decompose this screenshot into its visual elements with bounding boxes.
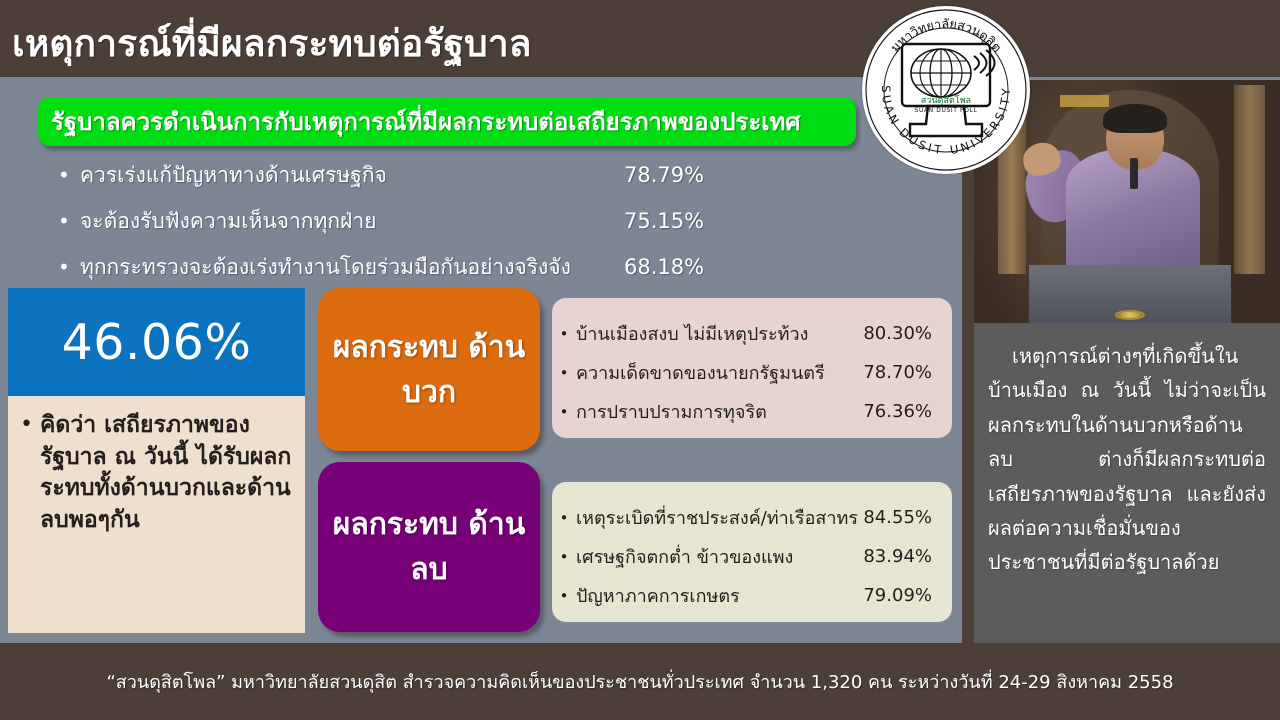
podium-seal-icon (1115, 310, 1145, 319)
list-item-label: การปราบปรามการทุจริต (576, 397, 767, 426)
list-item-label: ความเด็ดขาดของนายกรัฐมนตรี (576, 358, 825, 387)
positive-impact-tag-label: ผลกระทบ ด้านบวก (318, 325, 540, 415)
list-item: • เหตุระเบิดที่ราชประสงค์/ท่าเรือสาทร 84… (552, 498, 952, 537)
photo-pillar-right (1234, 85, 1265, 275)
recommendation-list: • ควรเร่งแก้ปัญหาทางด้านเศรษฐกิจ 78.79% … (58, 152, 758, 290)
bullet-icon: • (58, 165, 80, 185)
bullet-icon: • (552, 403, 576, 421)
list-item-percent: 80.30% (863, 323, 932, 344)
green-banner-label: รัฐบาลควรดำเนินการกับเหตุการณ์ที่มีผลกระ… (38, 102, 801, 141)
logo-center-thai: สวนดุสิตโพล (921, 95, 971, 106)
page-title: เหตุการณ์ที่มีผลกระทบต่อรัฐบาล (12, 14, 532, 73)
list-item: • บ้านเมืองสงบ ไม่มีเหตุประท้วง 80.30% (552, 314, 952, 353)
list-item-percent: 83.94% (863, 546, 932, 567)
list-item: • ความเด็ดขาดของนายกรัฐมนตรี 78.70% (552, 353, 952, 392)
headline-stat-box: 46.06% (8, 288, 305, 396)
list-item: • จะต้องรับฟังความเห็นจากทุกฝ่าย 75.15% (58, 198, 758, 244)
list-item: • คิดว่า เสถียรภาพของรัฐบาล ณ วันนี้ ได้… (20, 410, 293, 537)
negative-impact-panel: • เหตุระเบิดที่ราชประสงค์/ท่าเรือสาทร 84… (552, 482, 952, 622)
bullet-icon: • (20, 410, 40, 537)
green-question-banner: รัฐบาลควรดำเนินการกับเหตุการณ์ที่มีผลกระ… (38, 97, 856, 146)
bullet-icon: • (552, 364, 576, 382)
bullet-icon: • (552, 509, 576, 527)
logo-center-latin: SUAN DUSIT POLL (915, 107, 978, 114)
list-item-label: บ้านเมืองสงบ ไม่มีเหตุประท้วง (576, 319, 808, 348)
microphone-icon (1130, 158, 1138, 190)
photo-gold-ornament (1060, 95, 1109, 107)
summary-note-panel: เหตุการณ์ต่างๆที่เกิดขึ้นในบ้านเมือง ณ ว… (974, 323, 1280, 643)
footer-source-text: “สวนดุสิตโพล” มหาวิทยาลัยสวนดุสิต สำรวจค… (106, 667, 1173, 696)
list-item-label: จะต้องรับฟังความเห็นจากทุกฝ่าย (80, 205, 376, 238)
bullet-icon: • (58, 257, 80, 277)
footer-bar: “สวนดุสิตโพล” มหาวิทยาลัยสวนดุสิต สำรวจค… (0, 643, 1280, 720)
list-item-label: ปัญหาภาคการเกษตร (576, 581, 740, 610)
bullet-icon: • (552, 325, 576, 343)
photo-podium (1029, 265, 1231, 323)
negative-impact-tag-label: ผลกระทบ ด้านลบ (318, 502, 540, 592)
list-item-percent: 75.15% (624, 209, 704, 233)
photo-hair (1103, 104, 1167, 133)
list-item: • เศรษฐกิจตกต่ำ ข้าวของแพง 83.94% (552, 537, 952, 576)
negative-impact-tag: ผลกระทบ ด้านลบ (318, 462, 540, 632)
logo-seal-icon: สวนดุสิตโพล SUAN DUSIT POLL มหาวิทยาลัยส… (862, 6, 1030, 174)
header-bar: เหตุการณ์ที่มีผลกระทบต่อรัฐบาล (0, 0, 1280, 77)
list-item-label: ควรเร่งแก้ปัญหาทางด้านเศรษฐกิจ (80, 159, 387, 192)
list-item-percent: 78.70% (863, 362, 932, 383)
bullet-icon: • (552, 548, 576, 566)
list-item: • ทุกกระทรวงจะต้องเร่งทำงานโดยร่วมมือกัน… (58, 244, 758, 290)
list-item: • การปราบปรามการทุจริต 76.36% (552, 392, 952, 431)
bullet-icon: • (552, 587, 576, 605)
list-item-percent: 78.79% (624, 163, 704, 187)
list-item: • ปัญหาภาคการเกษตร 79.09% (552, 576, 952, 615)
list-item-percent: 68.18% (624, 255, 704, 279)
headline-stat-value: 46.06% (62, 314, 252, 371)
headline-stat-description-box: • คิดว่า เสถียรภาพของรัฐบาล ณ วันนี้ ได้… (8, 396, 305, 633)
bullet-icon: • (58, 211, 80, 231)
list-item-label: ทุกกระทรวงจะต้องเร่งทำงานโดยร่วมมือกันอย… (80, 251, 571, 284)
list-item-label: เศรษฐกิจตกต่ำ ข้าวของแพง (576, 542, 793, 571)
positive-impact-tag: ผลกระทบ ด้านบวก (318, 288, 540, 451)
summary-note-text: เหตุการณ์ต่างๆที่เกิดขึ้นในบ้านเมือง ณ ว… (988, 339, 1266, 580)
list-item-percent: 79.09% (863, 585, 932, 606)
list-item-percent: 84.55% (863, 507, 932, 528)
list-item-percent: 76.36% (863, 401, 932, 422)
list-item-label: เหตุระเบิดที่ราชประสงค์/ท่าเรือสาทร (576, 503, 858, 532)
list-item: • ควรเร่งแก้ปัญหาทางด้านเศรษฐกิจ 78.79% (58, 152, 758, 198)
positive-impact-panel: • บ้านเมืองสงบ ไม่มีเหตุประท้วง 80.30% •… (552, 298, 952, 438)
headline-stat-description: คิดว่า เสถียรภาพของรัฐบาล ณ วันนี้ ได้รั… (40, 410, 292, 537)
suan-dusit-university-logo: สวนดุสิตโพล SUAN DUSIT POLL มหาวิทยาลัยส… (862, 6, 1030, 174)
